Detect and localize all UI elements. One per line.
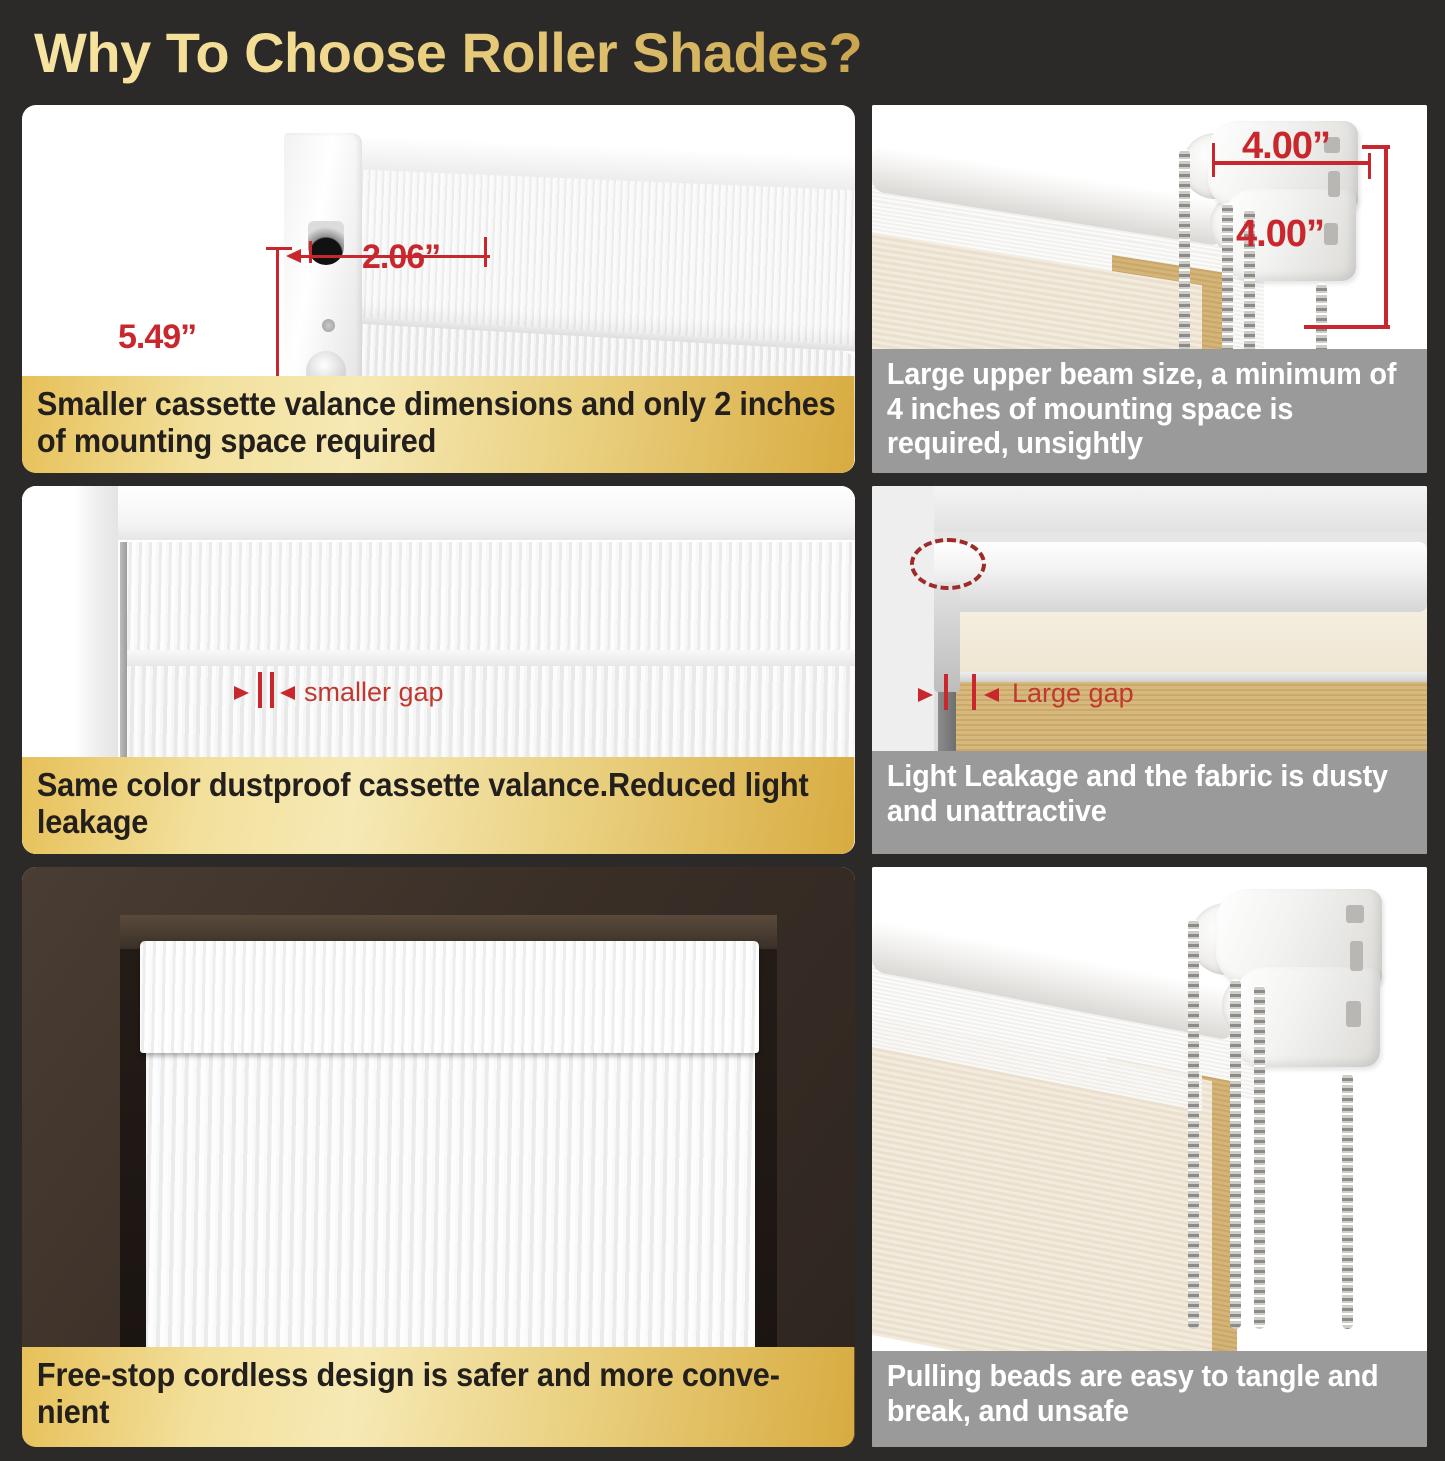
- panel-caption: Pulling beads are easy to tangle and bre…: [872, 1351, 1427, 1447]
- upper-shade-fabric: [126, 542, 855, 650]
- panel-caption: Free-stop cordless design is safer and m…: [22, 1347, 855, 1447]
- roller-tube: [934, 542, 1427, 612]
- gap-label: smaller gap: [304, 677, 444, 708]
- gap-arrow-right-icon: [918, 688, 933, 702]
- panel-cordless-design: Free-stop cordless design is safer and m…: [22, 867, 855, 1447]
- gap-arrow-right-icon: [234, 686, 249, 700]
- window-frame-top: [102, 486, 855, 540]
- highlight-circle-icon: [910, 538, 986, 590]
- valance-endcap: [284, 133, 362, 401]
- panel-caption: Light Leakage and the fabric is dusty an…: [872, 751, 1427, 854]
- beam-height-tick-top: [1362, 145, 1390, 149]
- width-dim-tick-right: [484, 237, 487, 267]
- screw-icon: [322, 319, 335, 332]
- panel-caption: Large upper beam size, a minimum of 4 in…: [872, 349, 1427, 473]
- width-dim-arrow-left-icon: [286, 249, 301, 263]
- page-title: Why To Choose Roller Shades?: [34, 20, 862, 85]
- gap-arrow-left-icon: [280, 686, 295, 700]
- beam-height-label: 4.00”: [1236, 213, 1324, 256]
- bead-chain-4: [1342, 1073, 1353, 1329]
- beam-width-tick-right: [1368, 153, 1371, 179]
- height-dim-tick-top: [266, 247, 292, 250]
- comparison-grid: 2.06” 5.49” Smaller cassette valance dim…: [0, 105, 1445, 1461]
- cassette-valance: [140, 941, 759, 1053]
- beam-width-tick-left: [1212, 143, 1215, 177]
- bracket-slot-lower: [1346, 1001, 1361, 1027]
- page-header: Why To Choose Roller Shades?: [0, 0, 1445, 105]
- bracket-slot-mid: [1328, 171, 1340, 197]
- bracket-slot-lower: [1324, 223, 1338, 245]
- panel-large-upper-beam: 4.00” 4.00” Large upper beam size, a min…: [872, 105, 1427, 473]
- panel-pulling-beads: Pulling beads are easy to tangle and bre…: [872, 867, 1427, 1447]
- gap-arrow-left-icon: [984, 688, 999, 702]
- beam-height-dimension-line: [1384, 145, 1388, 329]
- bead-chain-2: [1230, 979, 1241, 1329]
- bead-chain-1: [1179, 149, 1190, 374]
- gap-label: Large gap: [1012, 678, 1134, 709]
- bracket-slot-mid: [1350, 941, 1363, 971]
- beam-height-tick-bottom: [1304, 325, 1390, 329]
- panel-smaller-cassette: 2.06” 5.49” Smaller cassette valance dim…: [22, 105, 855, 473]
- gap-tick-right: [270, 672, 274, 708]
- bracket-slot-upper: [1346, 905, 1364, 923]
- width-dim-tick-left: [309, 241, 312, 263]
- panel-dustproof-valance: smaller gap Same color dustproof cassett…: [22, 486, 855, 854]
- bead-chain-3: [1254, 985, 1265, 1329]
- gap-tick-left: [258, 672, 262, 708]
- ceiling-surface: [872, 486, 1427, 532]
- gap-tick-left: [944, 674, 948, 710]
- panel-caption: Smaller cassette valance dimensions and …: [22, 376, 855, 473]
- width-dimension-label: 2.06”: [362, 238, 440, 277]
- height-dimension-label: 5.49”: [118, 318, 196, 357]
- bracket-slot-icon: [308, 221, 344, 265]
- gap-tick-right: [972, 674, 976, 710]
- roller-shade-fabric: [146, 1053, 755, 1383]
- bead-chain-1: [1188, 919, 1199, 1329]
- panel-caption: Same color dustproof cassette valance.Re…: [22, 757, 855, 854]
- beam-width-label: 4.00”: [1242, 125, 1330, 168]
- panel-light-leakage: Large gap Light Leakage and the fabric i…: [872, 486, 1427, 854]
